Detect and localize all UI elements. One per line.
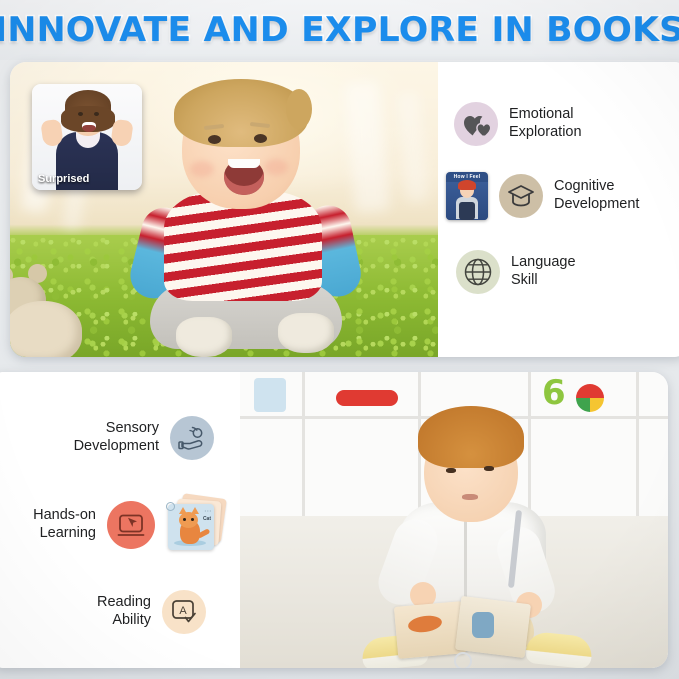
open-cloth-book [396,598,530,660]
teddy-bear-toy [10,271,88,357]
hand-touch-icon [170,416,214,460]
graduation-cap-icon [499,174,543,218]
feature-label: Reading Ability [97,594,151,629]
feature-label: Hands-on Learning [33,507,96,542]
bottom-feature-panel: Sensory Development Hands-on Learning [0,372,668,668]
feature-label: Emotional Exploration [509,106,582,141]
feature-label: Sensory Development [74,420,159,455]
flashcard-word: Cat [203,516,211,522]
cat-flashcard-stack[interactable]: • • • Cat [166,496,226,554]
feature-item-cognitive-development[interactable]: How I Feel Cognitive Development [446,172,676,220]
svg-text:A: A [179,605,187,617]
how-i-feel-book-cover[interactable]: How I Feel [446,172,488,220]
letter-a-check-icon: A [162,590,206,634]
hearts-icon [454,102,498,146]
number-block-six: 6 [542,376,566,410]
top-feature-panel: Surprised Emotional Exploration [10,62,679,357]
top-feature-list: Emotional Exploration How I Feel [438,62,679,357]
feature-label: Cognitive Development [554,178,639,213]
emotion-label: Surprised [38,173,89,185]
page-header: INNOVATE AND EXPLORE IN BOOKS [0,0,679,60]
red-toy [336,390,398,406]
feature-item-sensory-development[interactable]: Sensory Development [0,416,214,460]
window-light-streak [397,91,429,202]
globe-icon [456,250,500,294]
bottom-feature-list: Sensory Development Hands-on Learning [0,372,240,668]
baby-figure [128,87,366,355]
feature-item-language-skill[interactable]: Language Skill [456,250,676,294]
touchpad-cursor-icon [107,501,155,549]
blue-shelf-box [254,378,286,412]
laughing-baby-on-green-rug-photo: Surprised [10,62,438,357]
feature-item-hands-on-learning[interactable]: Hands-on Learning [0,496,226,554]
flashcard-ring [166,502,175,511]
feature-label: Language Skill [511,254,576,289]
book-cover-title: How I Feel [446,174,488,180]
flashcard-dots: • • • [205,508,211,513]
feature-item-reading-ability[interactable]: Reading Ability A [0,590,206,634]
feature-item-emotional-exploration[interactable]: Emotional Exploration [454,102,676,146]
rainbow-ball-toy [576,384,604,412]
surprised-emotion-card[interactable]: Surprised [32,84,142,190]
page-title: INNOVATE AND EXPLORE IN BOOKS [0,10,679,50]
toddler-reading-cloth-book-photo: 6 [240,372,668,668]
